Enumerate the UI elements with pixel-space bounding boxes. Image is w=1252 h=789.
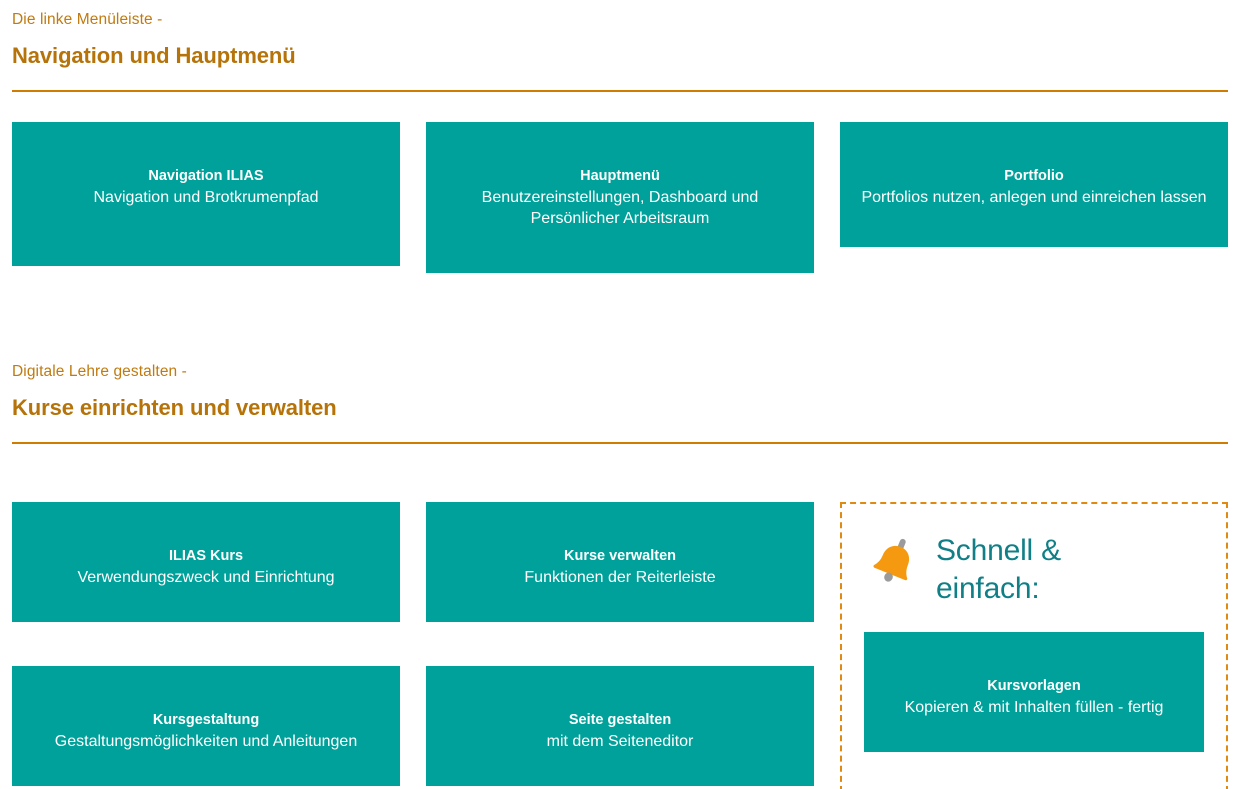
section-eyebrow: Die linke Menüleiste - [12, 10, 1228, 30]
card-subtitle: Kopieren & mit Inhalten füllen - fertig [905, 697, 1164, 718]
section-title: Kurse einrichten und verwalten [12, 393, 1228, 423]
page-title: Navigation und Hauptmenü [12, 41, 1228, 71]
card-title: Navigation ILIAS [148, 166, 263, 186]
card-title: Kurse verwalten [564, 546, 676, 566]
card-subtitle: Verwendungszweck und Einrichtung [77, 567, 334, 588]
bell-icon [868, 532, 922, 590]
section-eyebrow: Digitale Lehre gestalten - [12, 362, 1228, 382]
card-title: ILIAS Kurs [169, 546, 243, 566]
card-subtitle: Gestaltungsmöglichkeiten und Anleitungen [55, 731, 357, 752]
card-portfolio[interactable]: Portfolio Portfolios nutzen, anlegen und… [840, 122, 1228, 247]
card-subtitle: Portfolios nutzen, anlegen und einreiche… [861, 187, 1206, 208]
card-kursgestaltung[interactable]: Kursgestaltung Gestaltungsmöglichkeiten … [12, 666, 400, 786]
card-subtitle: Funktionen der Reiterleiste [524, 567, 715, 588]
card-grid-kurse: ILIAS Kurs Verwendungszweck und Einricht… [0, 502, 1252, 789]
card-kursvorlagen[interactable]: Kursvorlagen Kopieren & mit Inhalten fül… [864, 632, 1204, 752]
highlight-header: Schnell & einfach: [864, 526, 1204, 608]
section-divider [12, 90, 1228, 92]
card-subtitle: Benutzereinstellungen, Dashboard und Per… [440, 187, 800, 229]
card-navigation-ilias[interactable]: Navigation ILIAS Navigation und Brotkrum… [12, 122, 400, 266]
card-title: Seite gestalten [569, 710, 671, 730]
section-header-kurse: Digitale Lehre gestalten - Kurse einrich… [0, 362, 1252, 444]
card-title: Portfolio [1004, 166, 1064, 186]
card-title: Hauptmenü [580, 166, 660, 186]
card-kurse-verwalten[interactable]: Kurse verwalten Funktionen der Reiterlei… [426, 502, 814, 622]
card-subtitle: mit dem Seiteneditor [547, 731, 694, 752]
card-grid-navigation: Navigation ILIAS Navigation und Brotkrum… [0, 122, 1252, 273]
card-ilias-kurs[interactable]: ILIAS Kurs Verwendungszweck und Einricht… [12, 502, 400, 622]
card-subtitle: Navigation und Brotkrumenpfad [93, 187, 318, 208]
card-title: Kursgestaltung [153, 710, 259, 730]
section-divider [12, 442, 1228, 444]
card-title: Kursvorlagen [987, 676, 1080, 696]
highlight-heading: Schnell & einfach: [936, 532, 1116, 608]
help-page: Die linke Menüleiste - Navigation und Ha… [0, 0, 1252, 789]
card-hauptmenue[interactable]: Hauptmenü Benutzereinstellungen, Dashboa… [426, 122, 814, 273]
section-header-navigation: Die linke Menüleiste - Navigation und Ha… [0, 0, 1252, 92]
highlight-box-schnell-einfach: Schnell & einfach: Kursvorlagen Kopieren… [840, 502, 1228, 789]
card-seite-gestalten[interactable]: Seite gestalten mit dem Seiteneditor [426, 666, 814, 786]
